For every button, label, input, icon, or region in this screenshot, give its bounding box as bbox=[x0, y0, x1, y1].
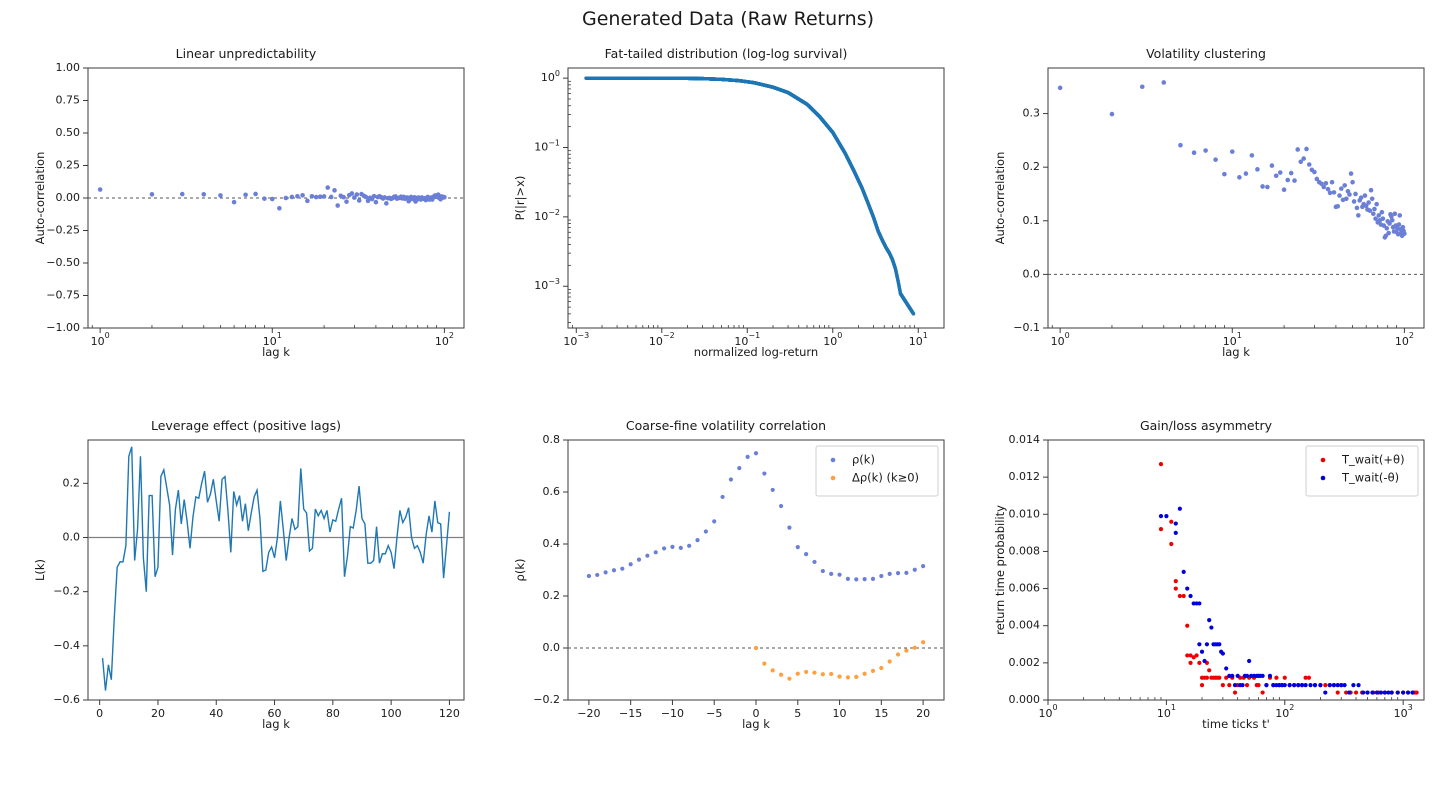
data-point bbox=[1330, 180, 1335, 185]
panel-title: Leverage effect (positive lags) bbox=[16, 418, 476, 433]
data-point bbox=[1205, 642, 1209, 646]
data-point bbox=[1289, 171, 1294, 176]
data-point bbox=[325, 185, 330, 190]
data-point bbox=[1230, 674, 1234, 678]
data-point bbox=[1207, 668, 1211, 672]
data-point bbox=[1178, 143, 1183, 148]
data-point bbox=[1296, 683, 1300, 687]
data-point bbox=[1233, 690, 1237, 694]
legend: T_wait(+θ)T_wait(-θ) bbox=[1306, 446, 1418, 496]
data-point bbox=[921, 564, 925, 568]
y-tick-label: 0.2 bbox=[1023, 160, 1041, 173]
data-point bbox=[1368, 208, 1373, 213]
data-point bbox=[863, 577, 867, 581]
x-tick-label: 101 bbox=[909, 331, 928, 348]
x-tick-label: 80 bbox=[326, 707, 340, 720]
data-point bbox=[904, 571, 908, 575]
data-point bbox=[662, 546, 666, 550]
data-point bbox=[1182, 570, 1186, 574]
data-point bbox=[1200, 650, 1204, 654]
legend-marker bbox=[831, 476, 836, 481]
plot-frame bbox=[1048, 68, 1424, 328]
data-point bbox=[1217, 642, 1221, 646]
data-point bbox=[1217, 676, 1221, 680]
data-point bbox=[1213, 157, 1218, 162]
data-point bbox=[1347, 690, 1351, 694]
data-point bbox=[1370, 690, 1374, 694]
plot-area[interactable]: 100101102−0.10.00.10.20.3lag kAuto-corre… bbox=[976, 46, 1436, 376]
data-point bbox=[1401, 690, 1405, 694]
data-point bbox=[1240, 683, 1244, 687]
data-point bbox=[1370, 197, 1375, 202]
data-point bbox=[1397, 222, 1402, 227]
data-point bbox=[374, 200, 379, 205]
data-point bbox=[1304, 683, 1308, 687]
data-point bbox=[1381, 216, 1386, 221]
data-point bbox=[1197, 661, 1201, 665]
data-point bbox=[1159, 514, 1163, 518]
data-point bbox=[243, 192, 248, 197]
data-point bbox=[1292, 178, 1297, 183]
data-point bbox=[290, 195, 295, 200]
data-point bbox=[720, 495, 724, 499]
data-point bbox=[637, 558, 641, 562]
y-tick-label: 0.25 bbox=[56, 159, 81, 172]
y-tick-label: 0.014 bbox=[1009, 433, 1041, 446]
y-tick-label: 0.004 bbox=[1009, 619, 1041, 632]
data-point bbox=[1197, 601, 1201, 605]
plot-area[interactable]: −20−15−10−505101520−0.20.00.20.40.60.8la… bbox=[496, 418, 956, 748]
data-point bbox=[1169, 520, 1173, 524]
figure-canvas: Generated Data (Raw Returns) Linear unpr… bbox=[0, 0, 1456, 800]
data-point bbox=[1195, 653, 1199, 657]
data-point bbox=[1410, 690, 1414, 694]
data-point bbox=[854, 675, 858, 679]
data-point bbox=[821, 569, 825, 573]
x-tick-label: 102 bbox=[435, 331, 454, 348]
y-tick-label: 0.010 bbox=[1009, 507, 1041, 520]
data-point bbox=[262, 196, 267, 201]
data-point bbox=[796, 672, 800, 676]
y-tick-label: −0.2 bbox=[53, 585, 80, 598]
data-point bbox=[1247, 659, 1251, 663]
panel-leverage-effect: Leverage effect (positive lags) 02040608… bbox=[16, 418, 476, 748]
data-point bbox=[1342, 683, 1346, 687]
x-tick-label: 100 bbox=[91, 331, 110, 348]
x-axis-label: normalized log-return bbox=[694, 345, 818, 359]
x-axis-label: lag k bbox=[262, 717, 290, 731]
data-point bbox=[1255, 167, 1260, 172]
data-point bbox=[737, 466, 741, 470]
data-point bbox=[1233, 683, 1237, 687]
data-point bbox=[314, 195, 319, 200]
data-point bbox=[329, 195, 334, 200]
y-tick-label: −0.1 bbox=[1013, 321, 1040, 334]
y-tick-label: 0.002 bbox=[1009, 656, 1041, 669]
data-point bbox=[1363, 193, 1368, 198]
legend-marker bbox=[831, 458, 836, 463]
y-tick-label: 0.0 bbox=[543, 641, 561, 654]
data-point bbox=[1312, 170, 1317, 175]
data-point bbox=[253, 192, 258, 197]
data-point bbox=[896, 571, 900, 575]
data-point bbox=[1318, 683, 1322, 687]
data-point bbox=[1174, 586, 1178, 590]
y-tick-label: 1.00 bbox=[56, 61, 81, 74]
data-point bbox=[829, 672, 833, 676]
data-point bbox=[1188, 594, 1192, 598]
data-point bbox=[350, 191, 355, 196]
y-tick-label: −0.4 bbox=[53, 639, 80, 652]
data-point bbox=[1250, 153, 1255, 158]
y-tick-label: 0.2 bbox=[63, 476, 81, 489]
data-point bbox=[310, 194, 315, 199]
data-point bbox=[1352, 199, 1357, 204]
data-point bbox=[1285, 178, 1290, 183]
y-axis-label: ρ(k) bbox=[513, 559, 527, 582]
data-point bbox=[98, 187, 103, 192]
data-point bbox=[1236, 674, 1240, 678]
data-point bbox=[1197, 642, 1201, 646]
data-point bbox=[1342, 183, 1347, 188]
data-point bbox=[1174, 531, 1178, 535]
data-point bbox=[1261, 674, 1265, 678]
data-point bbox=[1274, 676, 1278, 680]
data-point bbox=[1384, 226, 1389, 231]
data-point bbox=[1260, 184, 1265, 189]
data-point bbox=[1380, 210, 1385, 215]
y-tick-label: 0.50 bbox=[56, 126, 81, 139]
plot-area[interactable]: 10−310−210−110010110010−110−210−3normali… bbox=[496, 46, 956, 376]
data-point bbox=[1356, 213, 1361, 218]
panel-linear-unpredictability: Linear unpredictability 100101102−1.00−0… bbox=[16, 46, 476, 376]
data-point bbox=[1185, 624, 1189, 628]
data-point bbox=[654, 550, 658, 554]
data-point bbox=[1369, 188, 1374, 193]
data-point bbox=[1365, 690, 1369, 694]
data-point bbox=[1292, 683, 1296, 687]
data-point bbox=[1328, 683, 1332, 687]
data-point bbox=[1390, 690, 1394, 694]
panel-title: Coarse-fine volatility correlation bbox=[496, 418, 956, 433]
y-tick-label: 10−3 bbox=[534, 277, 560, 293]
data-point bbox=[1164, 514, 1168, 518]
data-point bbox=[837, 573, 841, 577]
panel-fat-tailed-distribution: Fat-tailed distribution (log-log surviva… bbox=[496, 46, 956, 376]
data-point bbox=[1192, 150, 1197, 155]
y-tick-label: −0.6 bbox=[53, 693, 80, 706]
data-point bbox=[1323, 683, 1327, 687]
x-axis-label: time ticks t' bbox=[1202, 717, 1270, 731]
data-point bbox=[762, 662, 766, 666]
data-point bbox=[1359, 195, 1364, 200]
data-point bbox=[1308, 683, 1312, 687]
y-tick-label: 10−2 bbox=[534, 207, 560, 223]
data-point bbox=[804, 670, 808, 674]
data-point bbox=[322, 194, 327, 199]
data-point bbox=[1182, 594, 1186, 598]
data-point bbox=[341, 195, 346, 200]
x-axis-label: lag k bbox=[262, 345, 290, 359]
data-point bbox=[1227, 683, 1231, 687]
y-axis-label: P(|r|>x) bbox=[513, 176, 527, 221]
data-point bbox=[754, 451, 758, 455]
x-tick-label: 40 bbox=[209, 707, 223, 720]
data-point bbox=[1278, 170, 1283, 175]
data-point bbox=[1178, 594, 1182, 598]
x-tick-label: 102 bbox=[1395, 331, 1414, 348]
data-point bbox=[1402, 231, 1407, 236]
panel-title: Linear unpredictability bbox=[16, 46, 476, 61]
y-tick-label: 0.1 bbox=[1023, 214, 1041, 227]
data-point bbox=[712, 519, 716, 523]
y-tick-label: −0.25 bbox=[46, 224, 80, 237]
plot-area[interactable]: 020406080100120−0.6−0.4−0.20.00.2lag kL(… bbox=[16, 418, 476, 748]
data-point bbox=[1207, 618, 1211, 622]
y-tick-label: 0.00 bbox=[56, 191, 81, 204]
data-line bbox=[103, 447, 450, 691]
x-axis-label: lag k bbox=[1222, 345, 1250, 359]
data-point bbox=[1406, 690, 1410, 694]
plot-area[interactable]: 1001011021030.0000.0020.0040.0060.0080.0… bbox=[976, 418, 1436, 748]
data-point bbox=[779, 504, 783, 508]
data-point bbox=[1336, 690, 1340, 694]
data-point bbox=[1335, 204, 1340, 209]
data-point bbox=[201, 192, 206, 197]
data-point bbox=[1295, 147, 1300, 152]
data-point bbox=[1265, 185, 1270, 190]
data-point bbox=[1264, 683, 1268, 687]
data-point bbox=[357, 198, 362, 203]
data-point bbox=[1256, 683, 1260, 687]
x-tick-label: 0 bbox=[96, 707, 103, 720]
plot-area[interactable]: 100101102−1.00−0.75−0.50−0.250.000.250.5… bbox=[16, 46, 476, 376]
data-point bbox=[1237, 175, 1242, 180]
data-point bbox=[442, 195, 447, 200]
data-point bbox=[355, 192, 360, 197]
data-point bbox=[1350, 180, 1355, 185]
data-point bbox=[1337, 193, 1342, 198]
data-point bbox=[150, 192, 155, 197]
data-layer bbox=[584, 76, 915, 315]
data-point bbox=[729, 477, 733, 481]
data-point bbox=[1270, 163, 1275, 168]
data-point bbox=[704, 529, 708, 533]
data-point bbox=[1245, 683, 1249, 687]
data-point bbox=[1169, 542, 1173, 546]
data-point bbox=[1371, 212, 1376, 217]
x-tick-label: 103 bbox=[1394, 703, 1413, 720]
figure-suptitle: Generated Data (Raw Returns) bbox=[0, 8, 1456, 30]
y-tick-label: 0.75 bbox=[56, 94, 81, 107]
data-point bbox=[1282, 187, 1287, 192]
data-point bbox=[1324, 181, 1329, 186]
data-point bbox=[863, 672, 867, 676]
data-point bbox=[1344, 197, 1349, 202]
data-point bbox=[1356, 683, 1360, 687]
data-point bbox=[1307, 676, 1311, 680]
data-point bbox=[1307, 162, 1312, 167]
data-point bbox=[645, 554, 649, 558]
data-point bbox=[1361, 690, 1365, 694]
data-layer bbox=[1058, 80, 1407, 240]
legend-label: T_wait(-θ) bbox=[1341, 471, 1399, 485]
y-tick-label: 0.0 bbox=[1023, 267, 1041, 280]
data-point bbox=[277, 206, 282, 211]
y-tick-label: −1.00 bbox=[46, 321, 80, 334]
data-point bbox=[270, 197, 275, 202]
data-point bbox=[1283, 683, 1287, 687]
panel-coarse-fine-volatility: Coarse-fine volatility correlation −20−1… bbox=[496, 418, 956, 748]
data-point bbox=[679, 546, 683, 550]
data-point bbox=[335, 203, 340, 208]
data-point bbox=[888, 659, 892, 663]
data-point bbox=[1244, 171, 1249, 176]
x-tick-label: −5 bbox=[706, 707, 722, 720]
y-tick-label: 100 bbox=[541, 69, 560, 85]
x-tick-label: 120 bbox=[439, 707, 460, 720]
panel-gain-loss-asymmetry: Gain/loss asymmetry 1001011021030.0000.0… bbox=[976, 418, 1436, 748]
data-layer bbox=[103, 447, 450, 691]
data-point bbox=[1161, 80, 1166, 85]
data-point bbox=[846, 577, 850, 581]
data-point bbox=[812, 671, 816, 675]
data-point bbox=[1230, 149, 1235, 154]
data-point bbox=[1222, 172, 1227, 177]
data-point bbox=[232, 200, 237, 205]
data-point bbox=[1245, 674, 1249, 678]
data-point bbox=[612, 568, 616, 572]
data-point bbox=[913, 646, 917, 650]
data-point bbox=[1283, 676, 1287, 680]
data-point bbox=[1349, 171, 1354, 176]
plot-frame bbox=[568, 68, 944, 328]
data-point bbox=[1355, 206, 1360, 211]
data-point bbox=[620, 567, 624, 571]
y-axis-label: L(k) bbox=[33, 559, 47, 581]
data-point bbox=[1202, 659, 1206, 663]
y-tick-label: 0.2 bbox=[543, 589, 561, 602]
panel-title: Fat-tailed distribution (log-log surviva… bbox=[496, 46, 956, 61]
data-point bbox=[1332, 190, 1337, 195]
legend-label: Δρ(k) (k≥0) bbox=[852, 471, 919, 485]
data-point bbox=[1415, 690, 1419, 694]
x-tick-label: 10−3 bbox=[563, 331, 589, 348]
data-point bbox=[1140, 84, 1145, 89]
data-point bbox=[1396, 690, 1400, 694]
x-tick-label: −20 bbox=[577, 707, 600, 720]
data-point bbox=[779, 673, 783, 677]
data-point bbox=[1354, 690, 1358, 694]
data-point bbox=[1110, 112, 1115, 117]
data-point bbox=[284, 196, 289, 201]
data-point bbox=[1159, 462, 1163, 466]
x-tick-label: 102 bbox=[1275, 703, 1294, 720]
data-point bbox=[1221, 651, 1225, 655]
data-point bbox=[180, 192, 185, 197]
legend-label: ρ(k) bbox=[852, 453, 875, 467]
panel-title: Gain/loss asymmetry bbox=[976, 418, 1436, 433]
x-tick-label: −10 bbox=[661, 707, 684, 720]
data-point bbox=[1268, 674, 1272, 678]
y-axis-label: return time probability bbox=[993, 505, 1007, 635]
y-tick-label: 0.8 bbox=[543, 433, 561, 446]
data-point bbox=[1301, 156, 1306, 161]
data-point bbox=[670, 545, 674, 549]
data-point bbox=[762, 471, 766, 475]
data-point bbox=[1390, 218, 1395, 223]
data-point bbox=[1209, 625, 1213, 629]
x-tick-label: 5 bbox=[794, 707, 801, 720]
data-point bbox=[1174, 579, 1178, 583]
y-tick-label: −0.50 bbox=[46, 256, 80, 269]
x-tick-label: 10 bbox=[833, 707, 847, 720]
x-tick-label: 100 bbox=[1051, 331, 1070, 348]
data-point bbox=[1221, 683, 1225, 687]
x-tick-label: 20 bbox=[151, 707, 165, 720]
data-point bbox=[1328, 191, 1333, 196]
data-point bbox=[1353, 192, 1358, 197]
data-point bbox=[879, 574, 883, 578]
x-tick-label: 100 bbox=[823, 331, 842, 348]
data-point bbox=[846, 675, 850, 679]
data-point bbox=[344, 199, 349, 204]
data-point bbox=[912, 312, 915, 315]
x-axis-label: lag k bbox=[742, 717, 770, 731]
panel-title: Volatility clustering bbox=[976, 46, 1436, 61]
x-tick-label: −15 bbox=[619, 707, 642, 720]
y-tick-label: 0.008 bbox=[1009, 544, 1041, 557]
data-point bbox=[1203, 148, 1208, 153]
data-point bbox=[1339, 186, 1344, 191]
data-point bbox=[771, 488, 775, 492]
data-point bbox=[1313, 683, 1317, 687]
data-point bbox=[812, 560, 816, 564]
data-point bbox=[888, 572, 892, 576]
data-point bbox=[305, 199, 310, 204]
legend: ρ(k)Δρ(k) (k≥0) bbox=[816, 446, 938, 496]
y-tick-label: 0.000 bbox=[1009, 693, 1041, 706]
data-point bbox=[746, 455, 750, 459]
data-point bbox=[1366, 200, 1371, 205]
data-point bbox=[829, 572, 833, 576]
data-point bbox=[1174, 521, 1178, 525]
data-point bbox=[904, 649, 908, 653]
data-point bbox=[1372, 207, 1377, 212]
data-point bbox=[913, 568, 917, 572]
data-point bbox=[896, 652, 900, 656]
data-layer bbox=[1159, 462, 1419, 695]
y-tick-label: 0.6 bbox=[543, 485, 561, 498]
y-tick-label: 0.012 bbox=[1009, 470, 1041, 483]
data-point bbox=[879, 666, 883, 670]
data-point bbox=[1304, 147, 1309, 152]
data-point bbox=[1058, 86, 1063, 91]
data-point bbox=[1261, 690, 1265, 694]
data-point bbox=[1205, 676, 1209, 680]
legend-marker bbox=[1321, 458, 1326, 463]
data-point bbox=[384, 201, 389, 206]
data-point bbox=[787, 677, 791, 681]
y-tick-label: 0.3 bbox=[1023, 107, 1041, 120]
legend-marker bbox=[1321, 476, 1326, 481]
data-point bbox=[837, 675, 841, 679]
data-point bbox=[1224, 666, 1228, 670]
data-point bbox=[604, 570, 608, 574]
data-point bbox=[695, 538, 699, 542]
panel-volatility-clustering: Volatility clustering 100101102−0.10.00.… bbox=[976, 46, 1436, 376]
y-axis-label: Auto-correlation bbox=[33, 152, 47, 245]
